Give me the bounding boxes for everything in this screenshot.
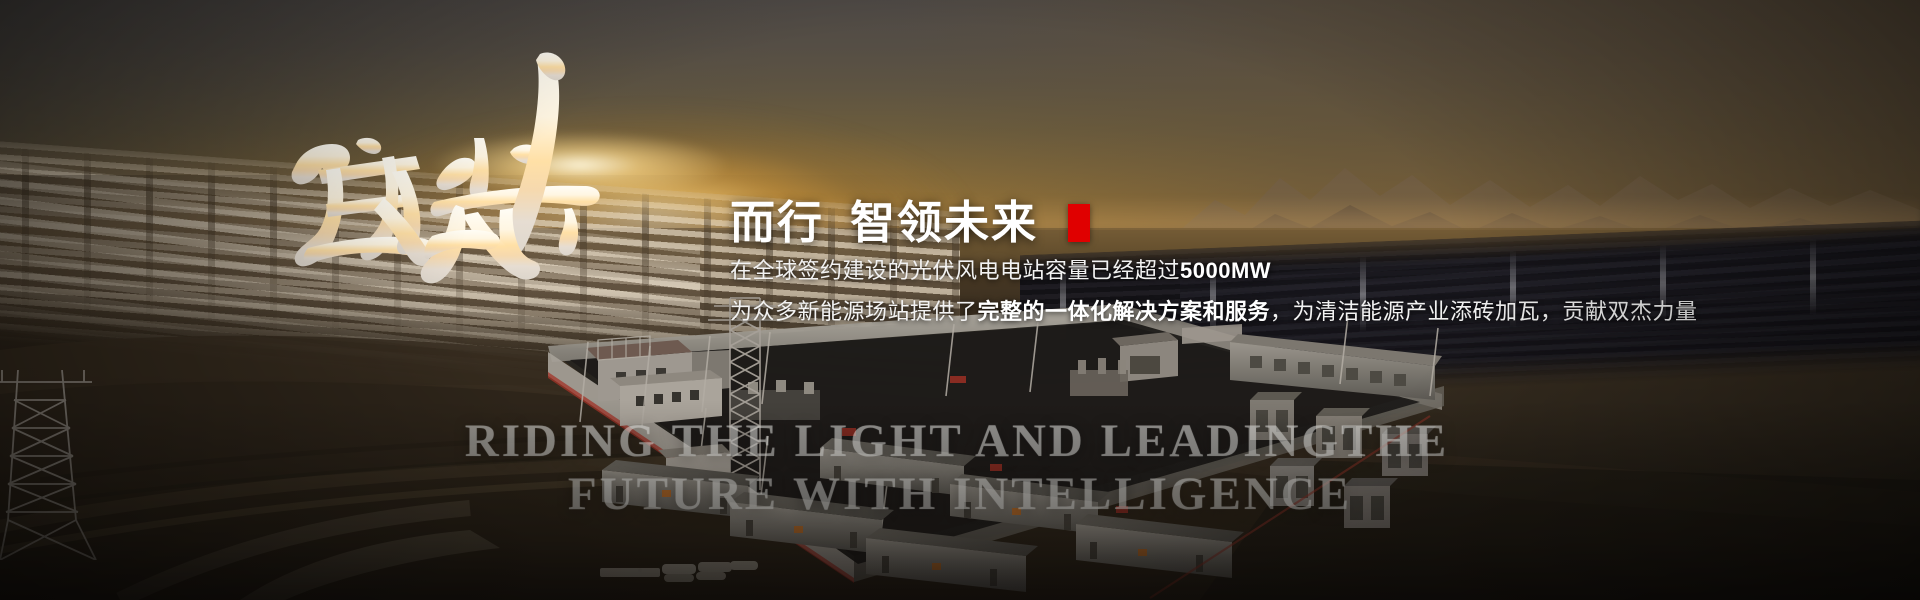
page-title: 而行 智领未来: [730, 200, 1730, 245]
sub-line-1: 在全球签约建设的光伏风电电站容量已经超过5000MW: [730, 255, 1730, 286]
sub-line-2-bold: 完整的一体化解决方案和服务: [978, 299, 1271, 324]
sub-line-2: 为众多新能源场站提供了完整的一体化解决方案和服务，为清洁能源产业添砖加瓦，贡献双…: [730, 296, 1730, 327]
headline-part-a: 而行: [730, 200, 824, 245]
headline-part-b: 智领未来: [850, 200, 1038, 245]
calligraphy-logo-yuguang: [288, 52, 618, 290]
sub-line-1-bold: 5000MW: [1180, 258, 1271, 283]
sub-line-1-plain: 在全球签约建设的光伏风电电站容量已经超过: [730, 258, 1180, 283]
sub-line-2-plain-2: ，为清洁能源产业添砖加瓦，贡献双杰力量: [1270, 299, 1698, 324]
sub-line-2-plain-1: 为众多新能源场站提供了: [730, 299, 978, 324]
battery-storage-facility: [430, 280, 1490, 600]
headline-text-block: 而行 智领未来 在全球签约建设的光伏风电电站容量已经超过5000MW 为众多新能…: [730, 200, 1730, 327]
transmission-tower-icon: [0, 370, 130, 560]
accent-red-block: [1068, 204, 1090, 242]
hero-banner: RIDING THE LIGHT AND LEADINGTHE FUTURE W…: [0, 0, 1920, 600]
